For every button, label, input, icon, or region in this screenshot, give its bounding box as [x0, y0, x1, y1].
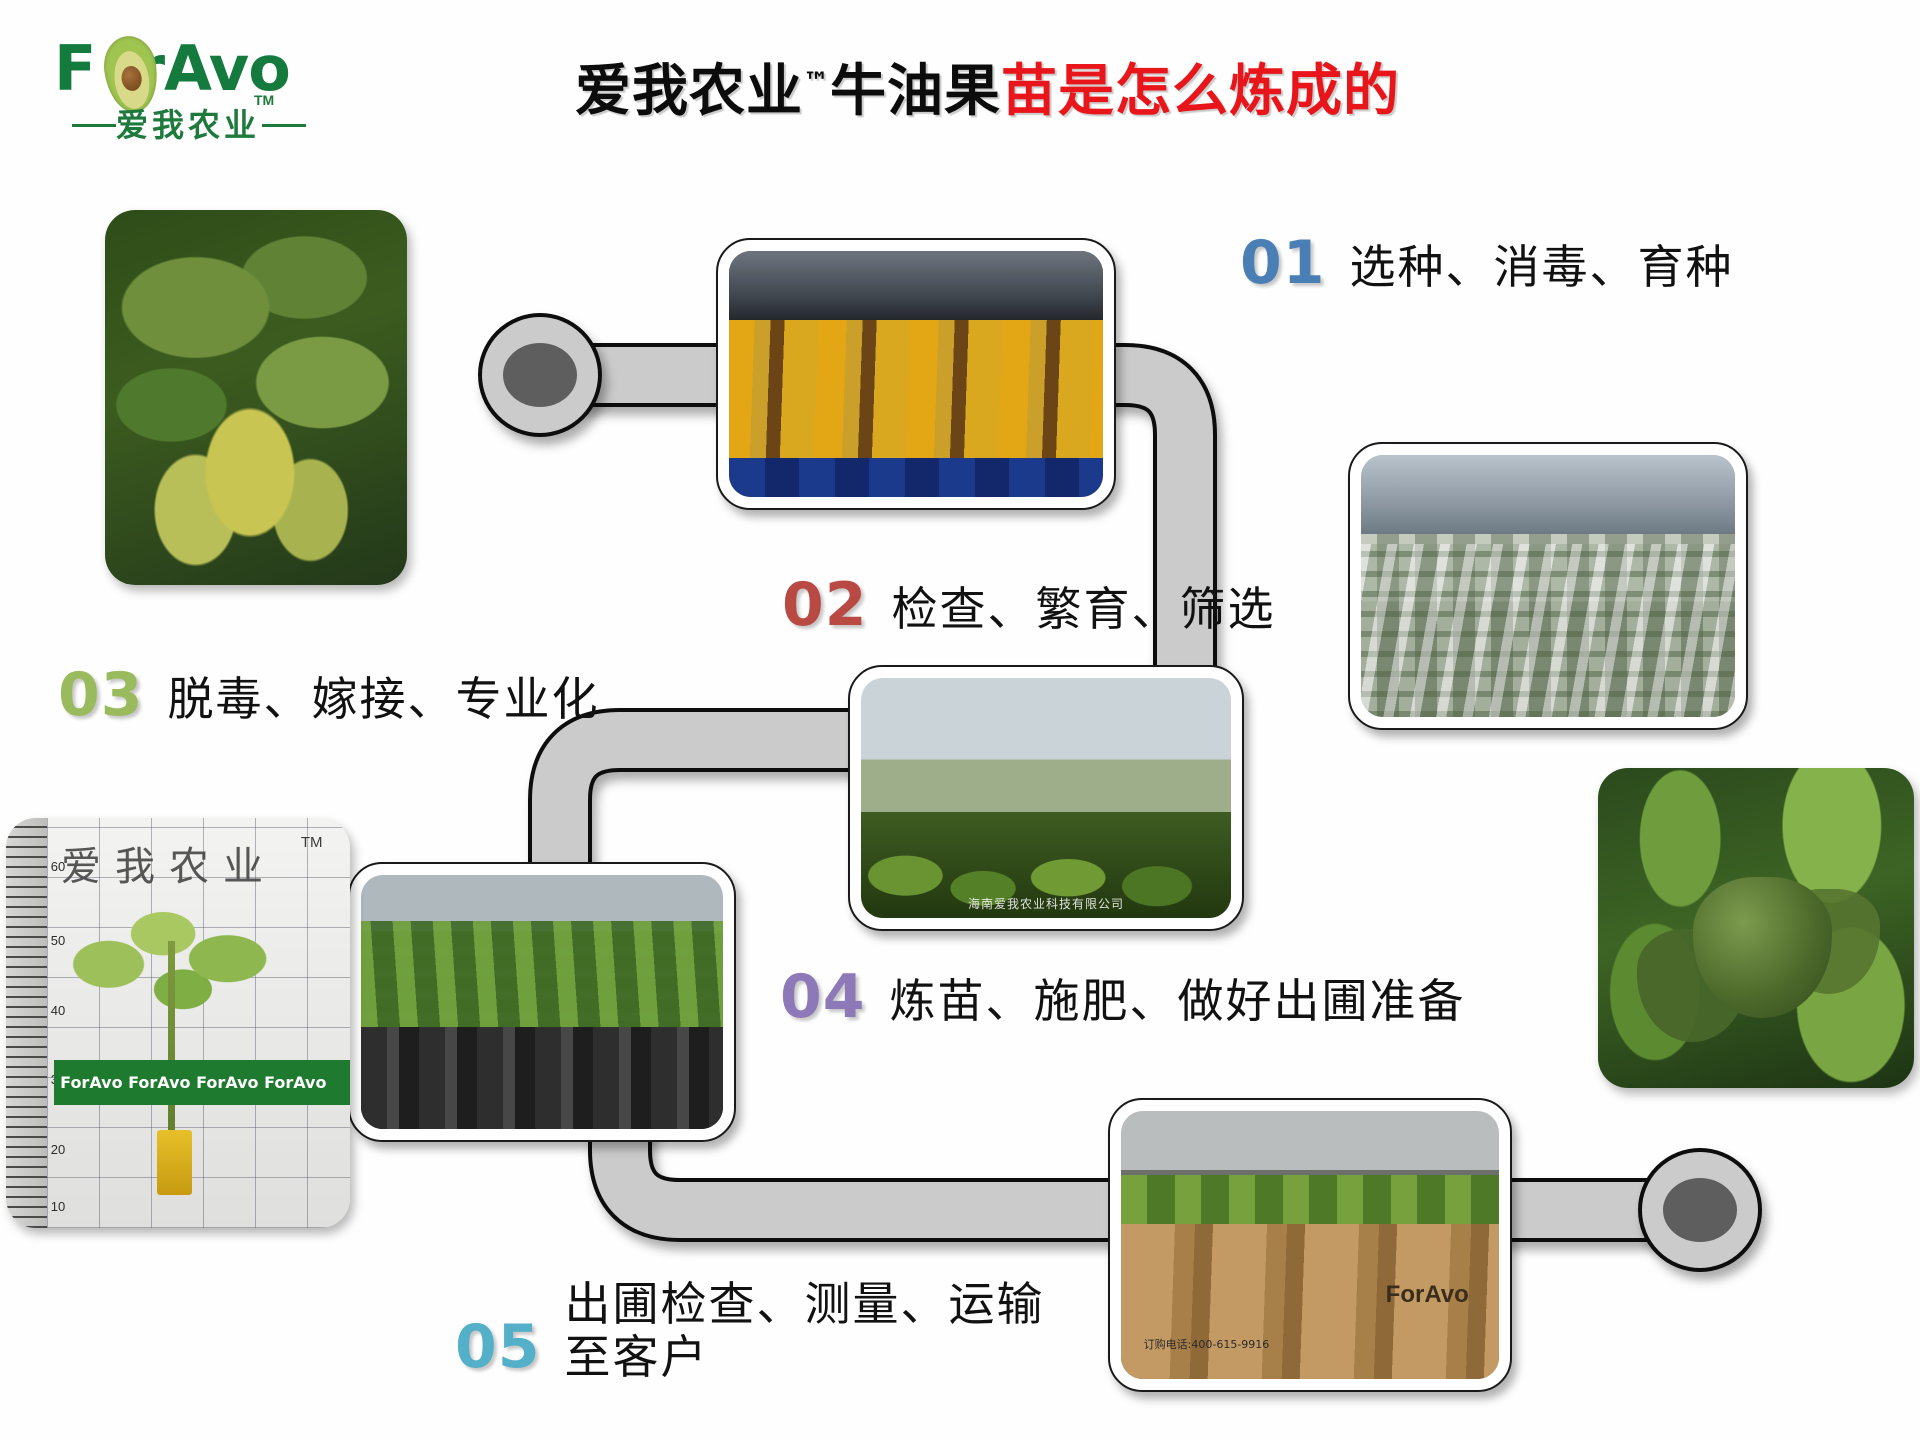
logo-chinese-name: 爱我农业: [116, 100, 260, 146]
photo-staff-inspecting: 海南爱我农业科技有限公司: [848, 665, 1244, 931]
logo-rule-right: [262, 124, 306, 127]
pipeline-end-cap-outer: [1640, 1150, 1760, 1270]
ruler-photo-brand-band: ForAvo ForAvo ForAvo ForAvo: [54, 1060, 350, 1105]
photo-potted-rows: [348, 862, 736, 1142]
step-02-text: 检查、繁育、筛选: [892, 573, 1276, 639]
brand-logo: ForAvo 爱我农业 TM: [48, 28, 328, 138]
title-trademark: ™: [803, 67, 830, 97]
infographic-canvas: ForAvo 爱我农业 TM 爱我农业™牛油果苗是怎么炼成的: [0, 0, 1920, 1440]
logo-trademark: TM: [254, 92, 274, 108]
box-brand-text: ForAvo: [1386, 1281, 1469, 1309]
step-05: 05 出圃检查、测量、运输 至客户: [455, 1278, 1045, 1384]
step-01-number: 01: [1240, 228, 1326, 298]
step-05-text: 出圃检查、测量、运输 至客户: [565, 1278, 1045, 1384]
title-part-black-2: 牛油果: [830, 59, 1001, 124]
photo-fruit-on-tree: [1598, 768, 1914, 1088]
step-03: 03 脱毒、嫁接、专业化: [58, 660, 600, 730]
page-title: 爱我农业™牛油果苗是怎么炼成的: [575, 46, 1400, 127]
step-01-text: 选种、消毒、育种: [1350, 231, 1734, 297]
step-02: 02 检查、繁育、筛选: [782, 570, 1276, 640]
photo-grafting-bags: [1348, 442, 1748, 730]
photo-packed-boxes: ForAvo 订购电话:400-615-9916: [1108, 1098, 1512, 1392]
photo-greenhouse-seed-trays: [716, 238, 1116, 510]
step-04: 04 炼苗、施肥、做好出圃准备: [780, 962, 1466, 1032]
step-02-number: 02: [782, 570, 868, 640]
step-03-text: 脱毒、嫁接、专业化: [168, 663, 600, 729]
title-part-red: 苗是怎么炼成的: [1001, 59, 1400, 124]
step-04-text: 炼苗、施肥、做好出圃准备: [890, 965, 1466, 1031]
step-04-number: 04: [780, 962, 866, 1032]
ruler-photo-brand-text: 爱我农业: [61, 834, 277, 892]
photo-watermark: 海南爱我农业科技有限公司: [861, 895, 1231, 912]
pipeline-end-cap-inner: [1663, 1178, 1737, 1242]
logo-rule-left: [72, 124, 116, 127]
step-01: 01 选种、消毒、育种: [1240, 228, 1734, 298]
step-03-number: 03: [58, 660, 144, 730]
box-phone-label: 订购电话:400-615-9916: [1144, 1336, 1270, 1352]
pipeline-start-cap-inner: [503, 343, 577, 407]
photo-ruler-seedling: 60 50 40 30 20 10 爱我农业 TM ForAvo ForAvo …: [6, 818, 350, 1228]
photo-flowering-branch: [105, 210, 407, 585]
ruler-photo-trademark: TM: [301, 834, 323, 851]
step-05-number: 05: [455, 1312, 541, 1382]
pipeline-start-cap-outer: [480, 315, 600, 435]
title-part-black: 爱我农业: [575, 59, 803, 124]
